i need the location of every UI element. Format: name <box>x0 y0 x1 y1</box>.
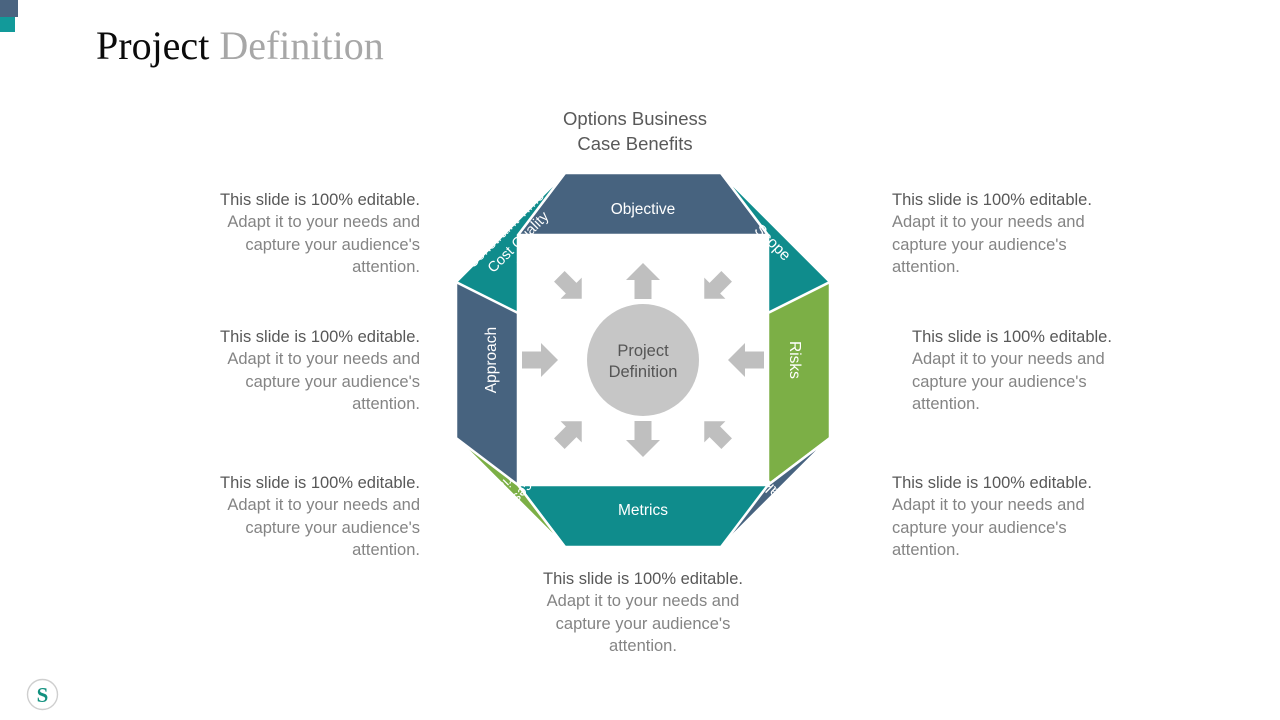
octagon-segment-risks[interactable]: Risks <box>768 282 830 485</box>
center-label-line2: Definition <box>609 363 678 381</box>
text-line-2: capture your audience's <box>498 613 788 635</box>
text-line-3: attention. <box>892 539 1192 561</box>
text-block-left-3: This slide is 100% editable. Adapt it to… <box>108 472 420 561</box>
text-line-1: Adapt it to your needs and <box>892 211 1192 233</box>
arrow-from-left-icon <box>522 343 558 377</box>
center-label-line1: Project <box>617 342 669 360</box>
text-line-1: Adapt it to your needs and <box>108 211 420 233</box>
text-line-2: capture your audience's <box>108 371 420 393</box>
logo-letter: S <box>37 683 49 707</box>
arrow-from-bottom-left-icon <box>549 411 593 455</box>
text-line-1: Adapt it to your needs and <box>108 494 420 516</box>
arrow-from-top-left-icon <box>549 266 593 310</box>
octagon-ring: Objective Scope Risks Stakeholder Metric… <box>456 173 830 547</box>
text-line-1: Adapt it to your needs and <box>912 348 1212 370</box>
diagram-heading: Options Business Case Benefits <box>495 106 775 156</box>
segment-label-metrics: Metrics <box>618 502 668 519</box>
arrow-from-bottom-icon <box>626 421 660 457</box>
text-block-right-3: This slide is 100% editable. Adapt it to… <box>892 472 1192 561</box>
text-line-3: attention. <box>108 393 420 415</box>
text-block-bottom-1: This slide is 100% editable. Adapt it to… <box>498 568 788 657</box>
text-line-1: Adapt it to your needs and <box>498 590 788 612</box>
segment-label-approach: Approach <box>483 327 500 393</box>
text-line-1: Adapt it to your needs and <box>892 494 1192 516</box>
page-title: Project Definition <box>96 18 384 74</box>
text-block-right-1: This slide is 100% editable. Adapt it to… <box>892 189 1192 278</box>
arrow-from-top-icon <box>626 263 660 299</box>
text-block-left-1: This slide is 100% editable. Adapt it to… <box>108 189 420 278</box>
slide-title-bar: Project Definition <box>0 0 1280 92</box>
text-headline: This slide is 100% editable. <box>912 326 1212 348</box>
text-line-3: attention. <box>108 539 420 561</box>
text-block-right-2: This slide is 100% editable. Adapt it to… <box>912 326 1212 415</box>
text-headline: This slide is 100% editable. <box>892 189 1192 211</box>
page-title-secondary: Definition <box>219 23 383 68</box>
text-headline: This slide is 100% editable. <box>108 326 420 348</box>
text-block-left-2: This slide is 100% editable. Adapt it to… <box>108 326 420 415</box>
text-headline: This slide is 100% editable. <box>498 568 788 590</box>
text-line-2: capture your audience's <box>912 371 1212 393</box>
brand-dot-teal-icon <box>0 17 15 32</box>
text-headline: This slide is 100% editable. <box>892 472 1192 494</box>
text-headline: This slide is 100% editable. <box>108 189 420 211</box>
slide-canvas: Project Definition Options Business Case… <box>0 0 1280 720</box>
brand-dot-navy-icon <box>0 0 18 17</box>
text-line-3: attention. <box>108 256 420 278</box>
arrow-from-top-right-icon <box>694 266 738 310</box>
text-line-3: attention. <box>892 256 1192 278</box>
text-line-3: attention. <box>912 393 1212 415</box>
center-node[interactable]: Project Definition <box>587 304 699 416</box>
text-headline: This slide is 100% editable. <box>108 472 420 494</box>
text-line-1: Adapt it to your needs and <box>108 348 420 370</box>
text-line-2: capture your audience's <box>108 234 420 256</box>
footer-logo[interactable]: S <box>26 678 59 711</box>
text-line-2: capture your audience's <box>892 234 1192 256</box>
segment-label-objective: Objective <box>611 201 676 218</box>
text-line-3: attention. <box>498 635 788 657</box>
segment-label-risks: Risks <box>786 341 803 379</box>
text-line-2: capture your audience's <box>892 517 1192 539</box>
page-title-primary: Project <box>96 23 209 68</box>
text-line-2: capture your audience's <box>108 517 420 539</box>
arrow-from-right-icon <box>728 343 764 377</box>
